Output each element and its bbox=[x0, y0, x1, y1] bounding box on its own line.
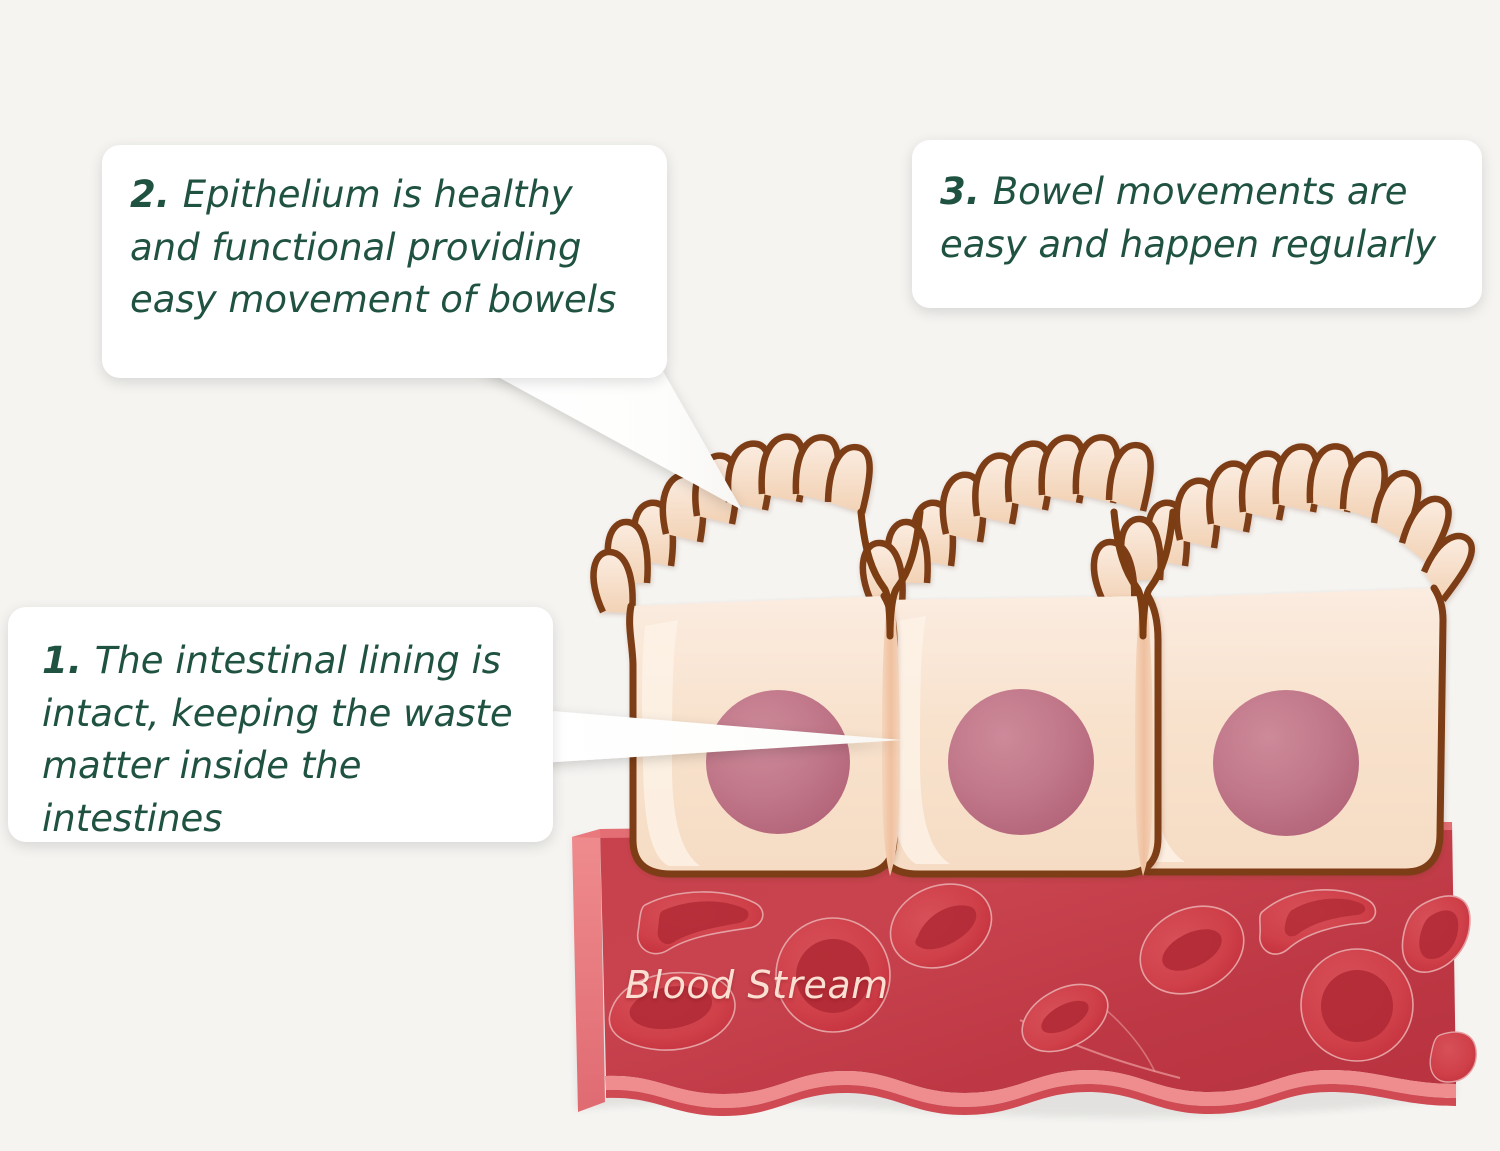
callout-1-number: 1. bbox=[42, 639, 95, 682]
callout-2-pointer bbox=[478, 366, 742, 510]
callout-3-text: Bowel movements are easy and happen regu… bbox=[940, 170, 1436, 266]
callout-3-number: 3. bbox=[940, 170, 993, 213]
cell-nucleus bbox=[1213, 690, 1359, 836]
callout-box-2[interactable]: 2. Epithelium is healthy and functional … bbox=[102, 145, 667, 378]
diagram-canvas: Blood Stream 1. The intestinal lining is… bbox=[0, 0, 1500, 1151]
cell-nucleus bbox=[948, 689, 1094, 835]
callout-1-text: The intestinal lining is intact, keeping… bbox=[42, 639, 513, 840]
blood-stream-label: Blood Stream bbox=[625, 963, 889, 1007]
callout-box-3[interactable]: 3. Bowel movements are easy and happen r… bbox=[912, 140, 1482, 308]
microvilli-group bbox=[594, 437, 870, 613]
epithelial-cell bbox=[594, 437, 894, 874]
rbc-dimple bbox=[1321, 970, 1393, 1042]
rbc-shape bbox=[1430, 1032, 1476, 1082]
red-blood-cell bbox=[1430, 1032, 1476, 1082]
epithelial-cell-layer bbox=[594, 437, 1472, 876]
callout-2-number: 2. bbox=[130, 173, 183, 216]
red-blood-cell bbox=[1301, 949, 1413, 1061]
microvillus bbox=[594, 552, 633, 613]
cell-nucleus bbox=[706, 690, 850, 834]
epithelial-cell bbox=[863, 437, 1158, 874]
callout-box-1[interactable]: 1. The intestinal lining is intact, keep… bbox=[8, 607, 553, 842]
callout-2-text: Epithelium is healthy and functional pro… bbox=[130, 173, 616, 321]
